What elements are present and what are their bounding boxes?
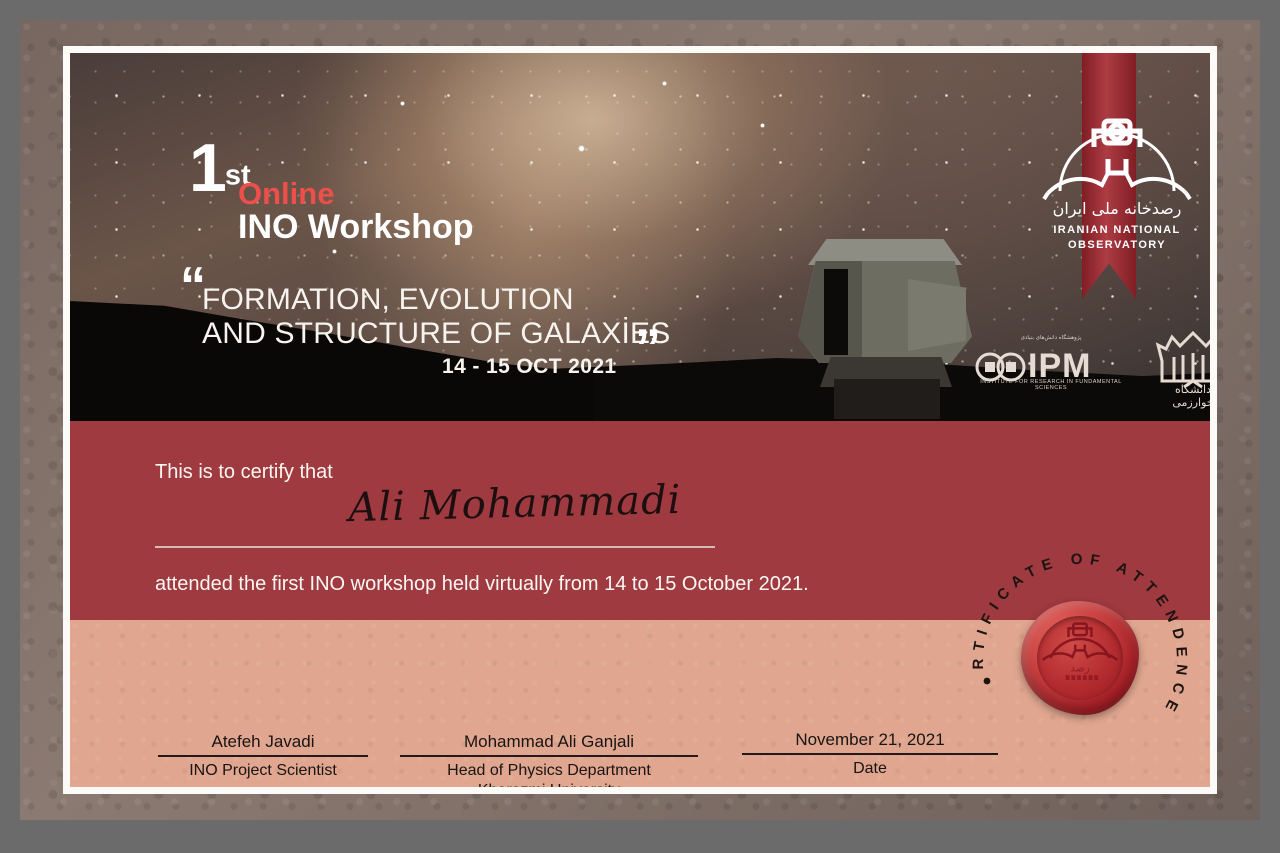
recipient-name-underline xyxy=(155,546,715,548)
online-label: Online xyxy=(238,176,334,212)
kharazmi-persian-text: دانشگاه خوارزمی xyxy=(1154,383,1210,409)
ino-logo: رصدخانه ملی ایران IRANIAN NATIONAL OBSER… xyxy=(1042,113,1192,273)
bright-star xyxy=(332,249,337,254)
certify-text: This is to certify that xyxy=(155,461,333,484)
certificate-card: 1st Online INO Workshop “ FORMATION, EVO… xyxy=(20,20,1260,820)
signatory-role: INO Project Scientist xyxy=(158,761,368,781)
workshop-topic: FORMATION, EVOLUTION AND STRUCTURE OF GA… xyxy=(202,283,670,350)
ordinal-number: 1 xyxy=(189,130,225,206)
wax-seal-badge: CERTIFICATE OF ATTENDENCE xyxy=(965,553,1195,763)
workshop-label: INO Workshop xyxy=(238,208,474,247)
certificate-inner-frame: 1st Online INO Workshop “ FORMATION, EVO… xyxy=(63,46,1217,794)
ino-name-line-2: OBSERVATORY xyxy=(1042,238,1192,253)
certificate-date: November 21, 2021 xyxy=(742,730,998,750)
date-label: Date xyxy=(742,759,998,779)
signature-rule xyxy=(400,755,698,757)
signatory-name: Mohammad Ali Ganjali xyxy=(400,732,698,752)
wax-blob: رصد xyxy=(1021,601,1139,715)
bright-star xyxy=(760,123,765,128)
recipient-name: Ali Mohammadi xyxy=(260,475,771,533)
signature-rule xyxy=(158,755,368,757)
topic-line-1: FORMATION, EVOLUTION xyxy=(202,283,670,317)
signatory-affiliation: Kharazmi University xyxy=(400,781,698,787)
signature-block-2: Mohammad Ali Ganjali Head of Physics Dep… xyxy=(400,732,698,787)
signature-block-1: Atefeh Javadi INO Project Scientist xyxy=(158,732,368,781)
wax-inner-disc: رصد xyxy=(1037,616,1123,700)
ipm-tagline: INSTITUTE FOR RESEARCH IN FUNDAMENTAL SC… xyxy=(972,379,1130,391)
bright-star xyxy=(662,81,667,86)
bright-star xyxy=(400,101,405,106)
certificate-page: 1st Online INO Workshop “ FORMATION, EVO… xyxy=(0,0,1280,853)
date-rule xyxy=(742,753,998,755)
svg-text:رصد: رصد xyxy=(1070,662,1090,674)
ino-persian-text: رصدخانه ملی ایران xyxy=(1042,199,1192,218)
topic-line-2: AND STRUCTURE OF GALAXİES xyxy=(202,317,670,351)
milky-way-photo-band: 1st Online INO Workshop “ FORMATION, EVO… xyxy=(70,53,1210,421)
date-block: November 21, 2021 Date xyxy=(742,730,998,779)
workshop-dates: 14 - 15 OCT 2021 xyxy=(442,355,617,379)
attendance-text: attended the first INO workshop held vir… xyxy=(155,573,809,596)
ino-name-line-1: IRANIAN NATIONAL xyxy=(1042,223,1192,238)
seal-bullet xyxy=(984,678,991,685)
bright-star xyxy=(578,145,585,152)
signatory-name: Atefeh Javadi xyxy=(158,732,368,752)
observatory-dome-photo xyxy=(790,239,980,387)
ipm-persian-text: پژوهشگاه دانش‌های بنیادی xyxy=(972,335,1130,341)
ino-name: IRANIAN NATIONAL OBSERVATORY xyxy=(1042,223,1192,253)
observatory-dome-icon: رصد xyxy=(1037,616,1123,698)
kharazmi-logo: دانشگاه خوارزمی xyxy=(1154,331,1210,407)
signatory-role: Head of Physics Department xyxy=(400,761,698,781)
ipm-logo: پژوهشگاه دانش‌های بنیادی IPM INSTITUTE F… xyxy=(972,337,1130,397)
quote-close-mark: ” xyxy=(635,333,661,364)
